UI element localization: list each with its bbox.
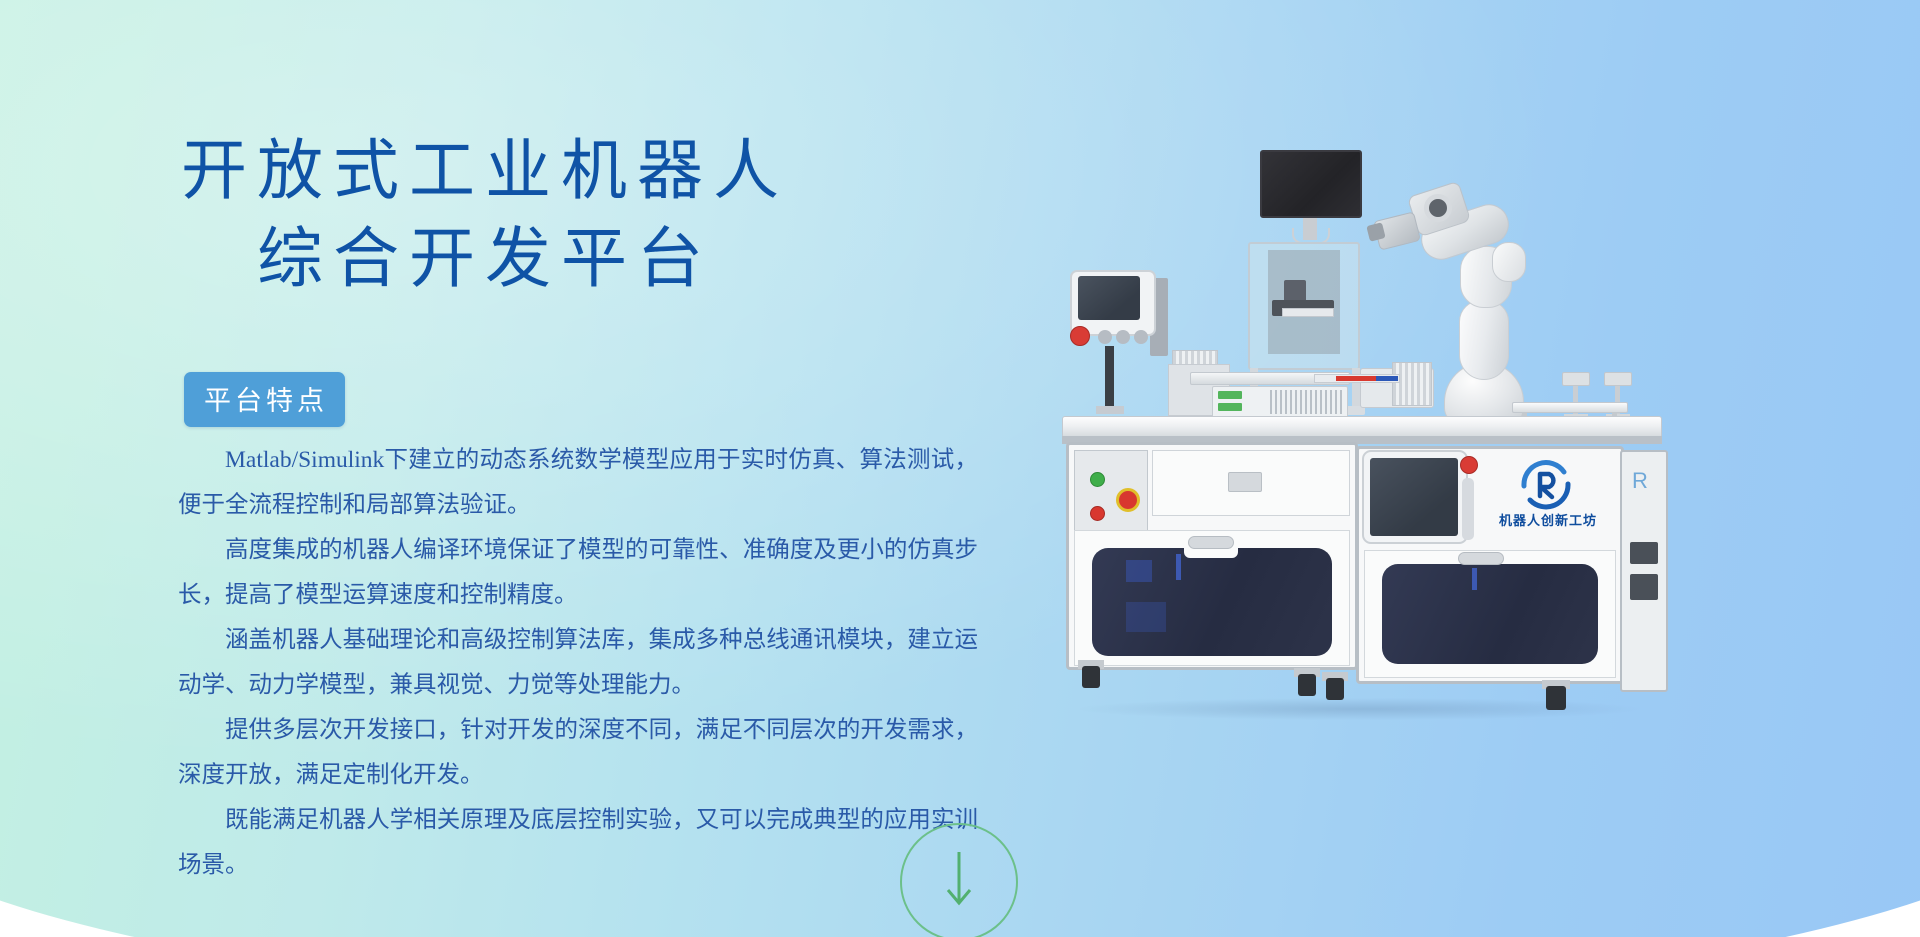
cabinet-right-door-handle[interactable] [1458, 552, 1504, 565]
feature-paragraph: Matlab/Simulink下建立的动态系统数学模型应用于实时仿真、算法测试，… [178, 438, 978, 528]
fixture-gripper-1 [1562, 372, 1590, 386]
hmi-pendant-screen[interactable] [1078, 276, 1140, 320]
hmi-button-3[interactable] [1134, 330, 1148, 344]
cabinet-left-window-glow-1 [1126, 560, 1152, 582]
robot-arm-tool-flange [1424, 194, 1452, 222]
cabinet-emergency-stop-button[interactable] [1116, 488, 1140, 512]
side-panel-vent-2 [1630, 574, 1658, 600]
cabinet-left-window-glow-2 [1126, 602, 1166, 632]
hmi-button-2[interactable] [1116, 330, 1130, 344]
cabinet-hmi-emergency-stop[interactable] [1460, 456, 1478, 474]
caster-wheel-4 [1546, 686, 1566, 710]
power-on-button[interactable] [1090, 472, 1105, 487]
product-illustration-robot-platform: 机器人创新工坊 R [1060, 150, 1670, 770]
enclosure-actuator-block [1284, 280, 1306, 302]
caster-wheel-3 [1326, 678, 1344, 700]
feature-paragraph: 既能满足机器人学相关原理及底层控制实验，又可以完成典型的应用实训场景。 [178, 798, 978, 888]
feature-paragraph: 涵盖机器人基础理论和高级控制算法库，集成多种总线通讯模块，建立运动学、动力学模型… [178, 618, 978, 708]
overhead-monitor-screen [1260, 150, 1362, 218]
caster-wheel-1 [1082, 666, 1100, 688]
scroll-down-button[interactable] [900, 823, 1018, 937]
controller-status-led-1 [1218, 391, 1242, 399]
cabinet-left-door-handle[interactable] [1188, 536, 1234, 549]
page-title: 开放式工业机器人 综合开发平台 [0, 128, 960, 304]
side-panel-logo-mark: R [1632, 468, 1662, 498]
section-badge-platform-features: 平台特点 [184, 372, 345, 427]
feature-paragraph: 提供多层次开发接口，针对开发的深度不同，满足不同层次的开发需求，深度开放，满足定… [178, 708, 978, 798]
hero-banner-page: 开放式工业机器人 综合开发平台 平台特点 Matlab/Simulink下建立的… [0, 0, 1920, 937]
cabinet-hmi-grip [1462, 478, 1474, 540]
rail-marker-blue [1376, 376, 1398, 381]
brand-logo: 机器人创新工坊 [1488, 460, 1608, 534]
worktop-surface [1062, 416, 1662, 438]
cabinet-left-drawer-handle[interactable] [1228, 472, 1262, 492]
module-heatsink-right [1392, 362, 1432, 406]
controller-status-led-2 [1218, 403, 1242, 411]
robot-arm-elbow-joint [1492, 242, 1526, 282]
cabinet-left-window-glow-3 [1176, 554, 1181, 580]
caster-wheel-2 [1298, 674, 1316, 696]
feature-paragraph: 高度集成的机器人编译环境保证了模型的可靠性、准确度及更小的仿真步长，提高了模型运… [178, 528, 978, 618]
page-title-line-1: 开放式工业机器人 [0, 128, 960, 216]
monitor-neck [1303, 218, 1317, 240]
arrow-down-icon [942, 850, 976, 912]
cabinet-hmi-screen[interactable] [1370, 458, 1458, 536]
power-off-button[interactable] [1090, 506, 1105, 521]
controller-vent-grille [1270, 390, 1344, 414]
robot-arm-shoulder [1459, 300, 1509, 380]
side-panel-vent-1 [1630, 542, 1658, 564]
emergency-stop-button[interactable] [1070, 326, 1090, 346]
hmi-pole-foot [1096, 406, 1124, 414]
fixture-gripper-2 [1604, 372, 1632, 386]
fixture-work-plate [1512, 402, 1628, 413]
enclosure-slide-bar [1282, 308, 1334, 317]
cabinet-right-window-glow [1472, 568, 1477, 590]
hmi-support-pole [1105, 346, 1114, 408]
brand-logo-text: 机器人创新工坊 [1488, 510, 1608, 529]
page-title-line-2: 综合开发平台 [0, 216, 960, 304]
brand-logo-mark-icon [1518, 460, 1574, 510]
feature-paragraph-list: Matlab/Simulink下建立的动态系统数学模型应用于实时仿真、算法测试，… [178, 438, 978, 888]
hmi-button-1[interactable] [1098, 330, 1112, 344]
rail-marker-red [1336, 376, 1376, 381]
cabinet-right-viewing-window [1382, 564, 1598, 664]
banner-text-column: 开放式工业机器人 综合开发平台 平台特点 Matlab/Simulink下建立的… [0, 0, 1010, 937]
